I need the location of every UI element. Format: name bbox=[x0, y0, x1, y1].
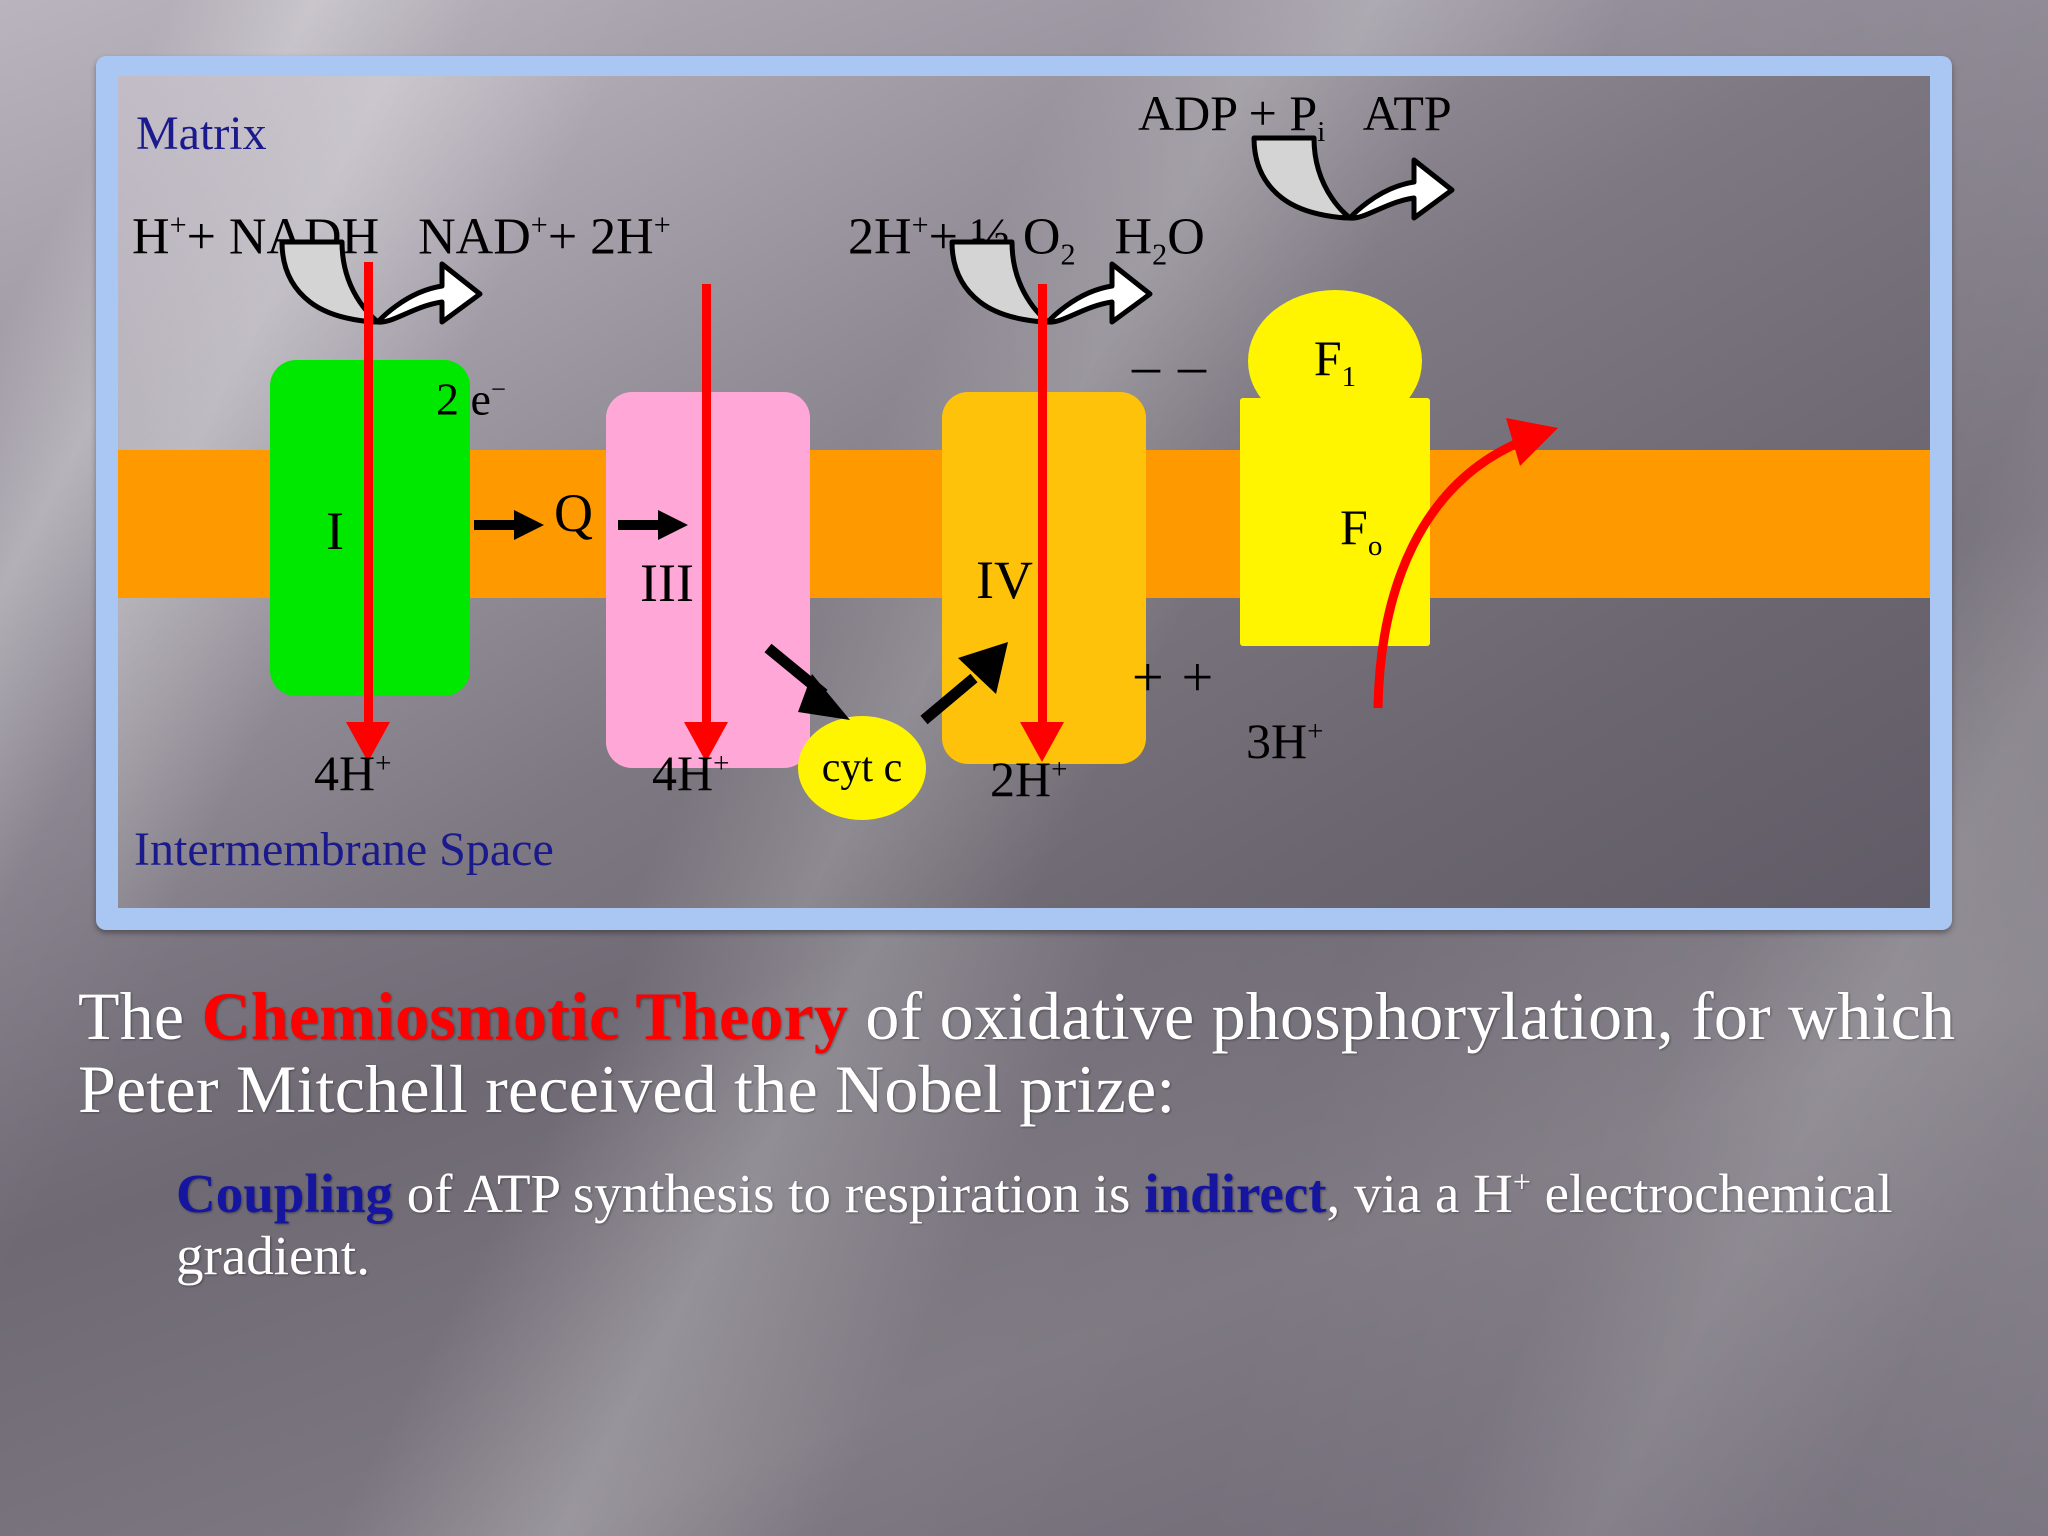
nad-2h-charge: + bbox=[654, 208, 671, 242]
electron-arrow-iii-to-cytc-icon bbox=[762, 642, 866, 728]
electron-arrow-cytc-to-iv-icon bbox=[912, 636, 1016, 726]
mitochondrial-membrane-diagram: Matrix Intermembrane Space H++ NADH NAD+… bbox=[96, 56, 1952, 930]
intermembrane-space-label: Intermembrane Space bbox=[134, 826, 554, 874]
proton-count-iv: 2H+ bbox=[990, 754, 1067, 804]
positive-charge-label: + + bbox=[1132, 650, 1215, 706]
proton-count-fo: 3H+ bbox=[1246, 716, 1323, 766]
proton-count-iii: 4H+ bbox=[652, 748, 729, 798]
nadh-h-charge: + bbox=[170, 208, 187, 242]
diagram-canvas: Matrix Intermembrane Space H++ NADH NAD+… bbox=[118, 76, 1930, 908]
slide-body-text: The Chemiosmotic Theory of oxidative pho… bbox=[78, 980, 1978, 1287]
proton-motive-force-arrow-icon bbox=[1258, 326, 1588, 716]
cytochrome-c-label: cyt c bbox=[822, 744, 902, 792]
cytochrome-c[interactable]: cyt c bbox=[798, 716, 926, 820]
water-o-text: O bbox=[1167, 208, 1205, 265]
proton-flow-arrow-i bbox=[364, 262, 373, 724]
chemiosmotic-theory-highlight: Chemiosmotic Theory bbox=[202, 978, 849, 1054]
paragraph-chemiosmotic-theory: The Chemiosmotic Theory of oxidative pho… bbox=[78, 980, 1978, 1127]
nadh-h-text: H bbox=[132, 208, 170, 265]
nad-2h-text: + 2H bbox=[548, 208, 654, 265]
paragraph-coupling: Coupling of ATP synthesis to respiration… bbox=[176, 1163, 1978, 1287]
electron-pair-label: 2 e− bbox=[436, 376, 506, 422]
complex-iv-label: IV bbox=[976, 553, 1033, 607]
proton-count-i: 4H+ bbox=[314, 748, 391, 798]
para2-post: , via a H bbox=[1327, 1163, 1513, 1224]
para1-pre: The bbox=[78, 978, 202, 1054]
para2-proton-charge: + bbox=[1513, 1165, 1531, 1200]
o2-2h-charge: + bbox=[912, 208, 929, 242]
negative-charge-label: – – bbox=[1132, 338, 1208, 394]
atp-synthesis-arrow-icon bbox=[1238, 132, 1458, 242]
ubiquinone-label: Q bbox=[554, 486, 593, 540]
complex-iii-label: III bbox=[640, 556, 694, 610]
electron-arrow-q-to-iii-icon bbox=[618, 508, 690, 542]
para2-mid: of ATP synthesis to respiration is bbox=[393, 1163, 1144, 1224]
complex-i-label: I bbox=[326, 504, 344, 558]
matrix-label: Matrix bbox=[136, 110, 267, 158]
proton-flow-arrow-iii bbox=[702, 284, 711, 724]
proton-flow-arrow-iv bbox=[1038, 284, 1047, 724]
indirect-highlight: indirect bbox=[1144, 1163, 1326, 1224]
o2-2h-text: 2H bbox=[848, 208, 912, 265]
coupling-highlight: Coupling bbox=[176, 1163, 393, 1224]
nadh-conversion-arrow-icon bbox=[266, 236, 486, 346]
electron-arrow-to-q-icon bbox=[474, 508, 546, 542]
nad-charge: + bbox=[531, 208, 548, 242]
